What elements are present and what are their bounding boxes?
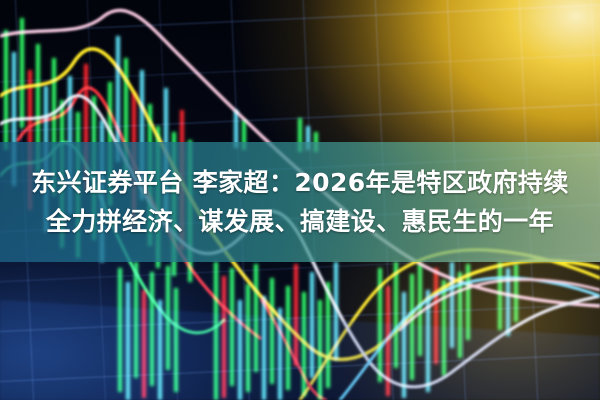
headline-line-1: 东兴证券平台 李家超：2026年是特区政府持续 — [31, 163, 569, 202]
news-banner: 东兴证券平台 李家超：2026年是特区政府持续 全力拼经济、谋发展、搞建设、惠民… — [0, 0, 600, 400]
headline-line-2: 全力拼经济、谋发展、搞建设、惠民生的一年 — [46, 202, 554, 241]
headline-band: 东兴证券平台 李家超：2026年是特区政府持续 全力拼经济、谋发展、搞建设、惠民… — [0, 142, 600, 262]
